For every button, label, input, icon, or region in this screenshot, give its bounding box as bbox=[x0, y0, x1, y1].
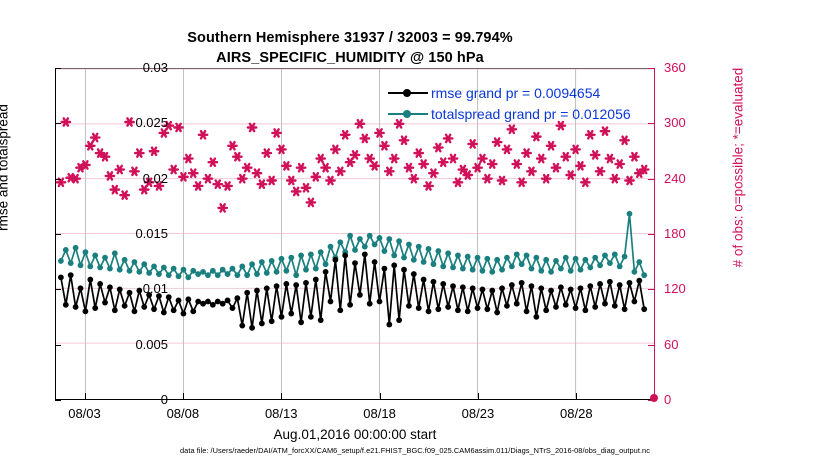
x-tick-mark bbox=[281, 393, 282, 400]
y-tick-right-mark bbox=[648, 123, 655, 124]
figure-canvas: Southern Hemisphere 31937 / 32003 = 99.7… bbox=[0, 0, 830, 470]
x-axis-label: Aug.01,2016 00:00:00 start bbox=[55, 427, 655, 442]
y-tick-right-mark bbox=[648, 234, 655, 235]
y-tick-left-mark bbox=[55, 345, 61, 346]
legend-item-rmse[interactable]: rmse grand pr = 0.0094654 bbox=[388, 83, 631, 102]
y-tick-left: 0.025 bbox=[108, 115, 168, 130]
obs-evaluated-markers bbox=[57, 118, 649, 211]
x-tick-mark bbox=[478, 393, 479, 400]
legend-marker-icon bbox=[388, 87, 428, 99]
x-tick: 08/03 bbox=[50, 406, 120, 421]
y-tick-left: 0.02 bbox=[108, 171, 168, 186]
legend-item-totalspread[interactable]: totalspread grand pr = 0.012056 bbox=[388, 104, 631, 123]
y-tick-left: 0.015 bbox=[108, 226, 168, 241]
y-tick-right: 60 bbox=[664, 337, 724, 352]
totalspread-series bbox=[58, 211, 647, 280]
legend-label: totalspread grand pr = 0.012056 bbox=[431, 106, 631, 122]
y-tick-right-mark bbox=[648, 289, 655, 290]
y-tick-left-mark bbox=[55, 179, 61, 180]
y-tick-right: 300 bbox=[664, 115, 724, 130]
y-tick-right-mark bbox=[648, 345, 655, 346]
y-tick-left: 0.005 bbox=[108, 337, 168, 352]
x-tick: 08/08 bbox=[148, 406, 218, 421]
chart-title-line1: Southern Hemisphere 31937 / 32003 = 99.7… bbox=[187, 30, 513, 46]
x-tick: 08/13 bbox=[246, 406, 316, 421]
y-tick-right: 120 bbox=[664, 281, 724, 296]
y-tick-left-mark bbox=[55, 400, 61, 401]
legend-label: rmse grand pr = 0.0094654 bbox=[431, 85, 600, 101]
legend-marker-icon bbox=[388, 108, 428, 120]
y-tick-left: 0.01 bbox=[108, 281, 168, 296]
chart-title-line2: AIRS_SPECIFIC_HUMIDITY @ 150 hPa bbox=[0, 48, 700, 68]
y-tick-left-mark bbox=[55, 289, 61, 290]
y-tick-left: 0 bbox=[108, 392, 168, 407]
chart-title: Southern Hemisphere 31937 / 32003 = 99.7… bbox=[0, 28, 700, 68]
x-tick-mark bbox=[380, 393, 381, 400]
y-tick-right: 360 bbox=[664, 60, 724, 75]
y-tick-left-mark bbox=[55, 234, 61, 235]
data-file-footer: data file: /Users/raeder/DAI/ATM_forcXX/… bbox=[0, 446, 830, 455]
y-tick-left-mark bbox=[55, 68, 61, 69]
y-tick-right: 0 bbox=[664, 392, 724, 407]
y-axis-right-label: # of obs: o=possible; *=evaluated bbox=[731, 0, 746, 358]
y-tick-right: 180 bbox=[664, 226, 724, 241]
y-tick-right-mark bbox=[648, 400, 655, 401]
x-tick: 08/23 bbox=[443, 406, 513, 421]
x-tick: 08/18 bbox=[345, 406, 415, 421]
y-tick-right-mark bbox=[648, 68, 655, 69]
y-tick-left-mark bbox=[55, 123, 61, 124]
x-tick-mark bbox=[576, 393, 577, 400]
x-tick-mark bbox=[85, 393, 86, 400]
legend: rmse grand pr = 0.0094654totalspread gra… bbox=[388, 83, 631, 123]
y-tick-left: 0.03 bbox=[108, 60, 168, 75]
y-tick-right: 240 bbox=[664, 171, 724, 186]
x-tick: 08/28 bbox=[541, 406, 611, 421]
x-tick-mark bbox=[183, 393, 184, 400]
y-tick-right-mark bbox=[648, 179, 655, 180]
